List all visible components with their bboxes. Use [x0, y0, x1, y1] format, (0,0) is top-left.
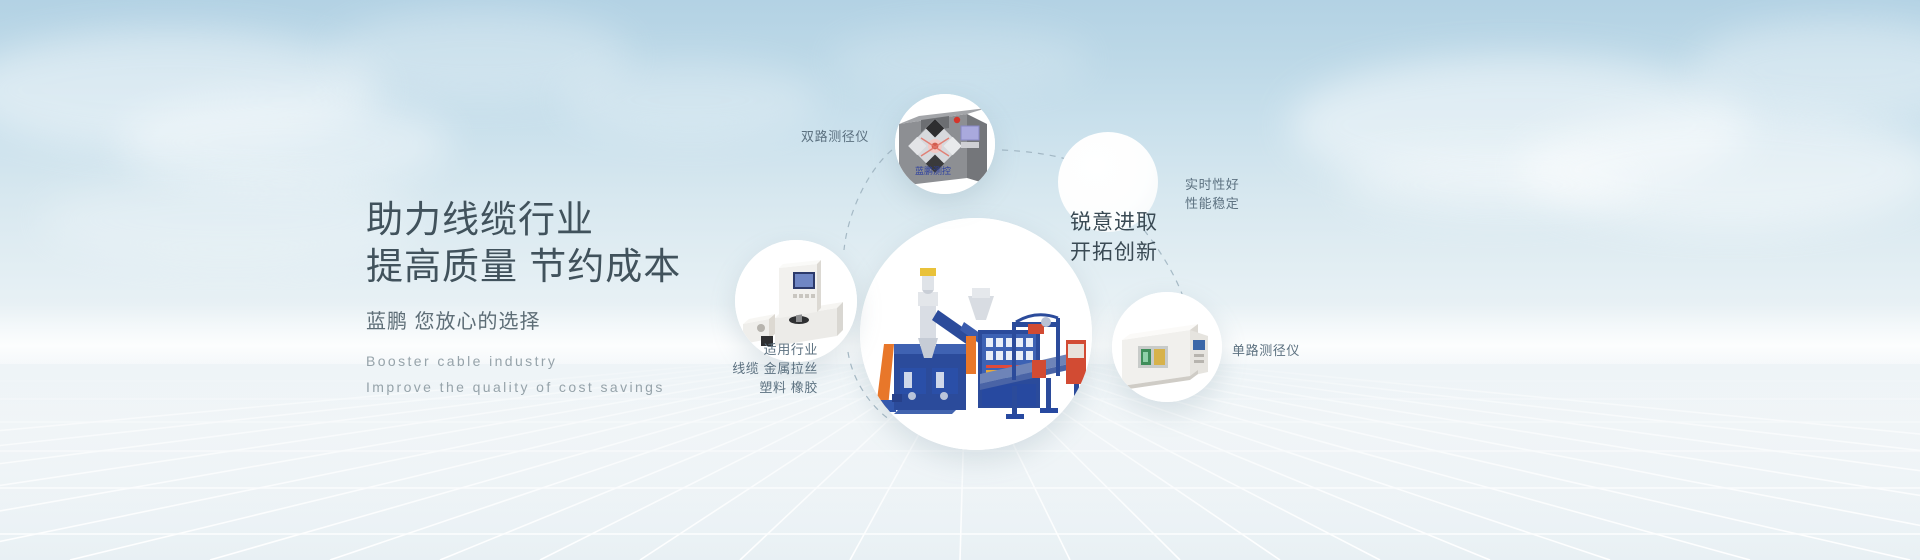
slogan-line-2: 开拓创新: [1070, 238, 1250, 268]
bubble-dual-gauge: 蓝鹏测控: [895, 94, 995, 194]
label-industry-line-2: 塑料 橡胶: [728, 378, 818, 397]
label-industry-line-1: 线缆 金属拉丝: [728, 359, 818, 378]
cloud-decoration: [40, 175, 420, 265]
cloud-decoration: [0, 30, 380, 150]
dual-gauge-illustration: 蓝鹏测控: [895, 94, 995, 194]
device-brand-text: 蓝鹏测控: [915, 165, 951, 176]
single-gauge-illustration: [1112, 292, 1222, 402]
cloud-decoration: [330, 10, 630, 100]
label-performance-line-2: 性能稳定: [1185, 194, 1239, 213]
hero-banner: 助力线缆行业 提高质量 节约成本 蓝鹏 您放心的选择 Booster cable…: [0, 0, 1920, 560]
extrusion-line-illustration: [860, 218, 1092, 450]
label-industry: 适用行业 线缆 金属拉丝 塑料 橡胶: [728, 340, 818, 397]
label-industry-title: 适用行业: [728, 340, 818, 359]
bubble-single-gauge: [1112, 292, 1222, 402]
product-composition: 蓝鹏测控: [720, 0, 1920, 560]
slogan-text: 锐意进取 开拓创新: [1070, 208, 1250, 268]
label-performance: 实时性好 性能稳定: [1185, 175, 1239, 213]
cloud-decoration: [120, 95, 450, 190]
bubble-extrusion-line: [860, 218, 1092, 450]
label-single-gauge: 单路测径仪: [1232, 341, 1300, 360]
label-dual-gauge: 双路测径仪: [801, 127, 869, 146]
label-performance-line-1: 实时性好: [1185, 175, 1239, 194]
